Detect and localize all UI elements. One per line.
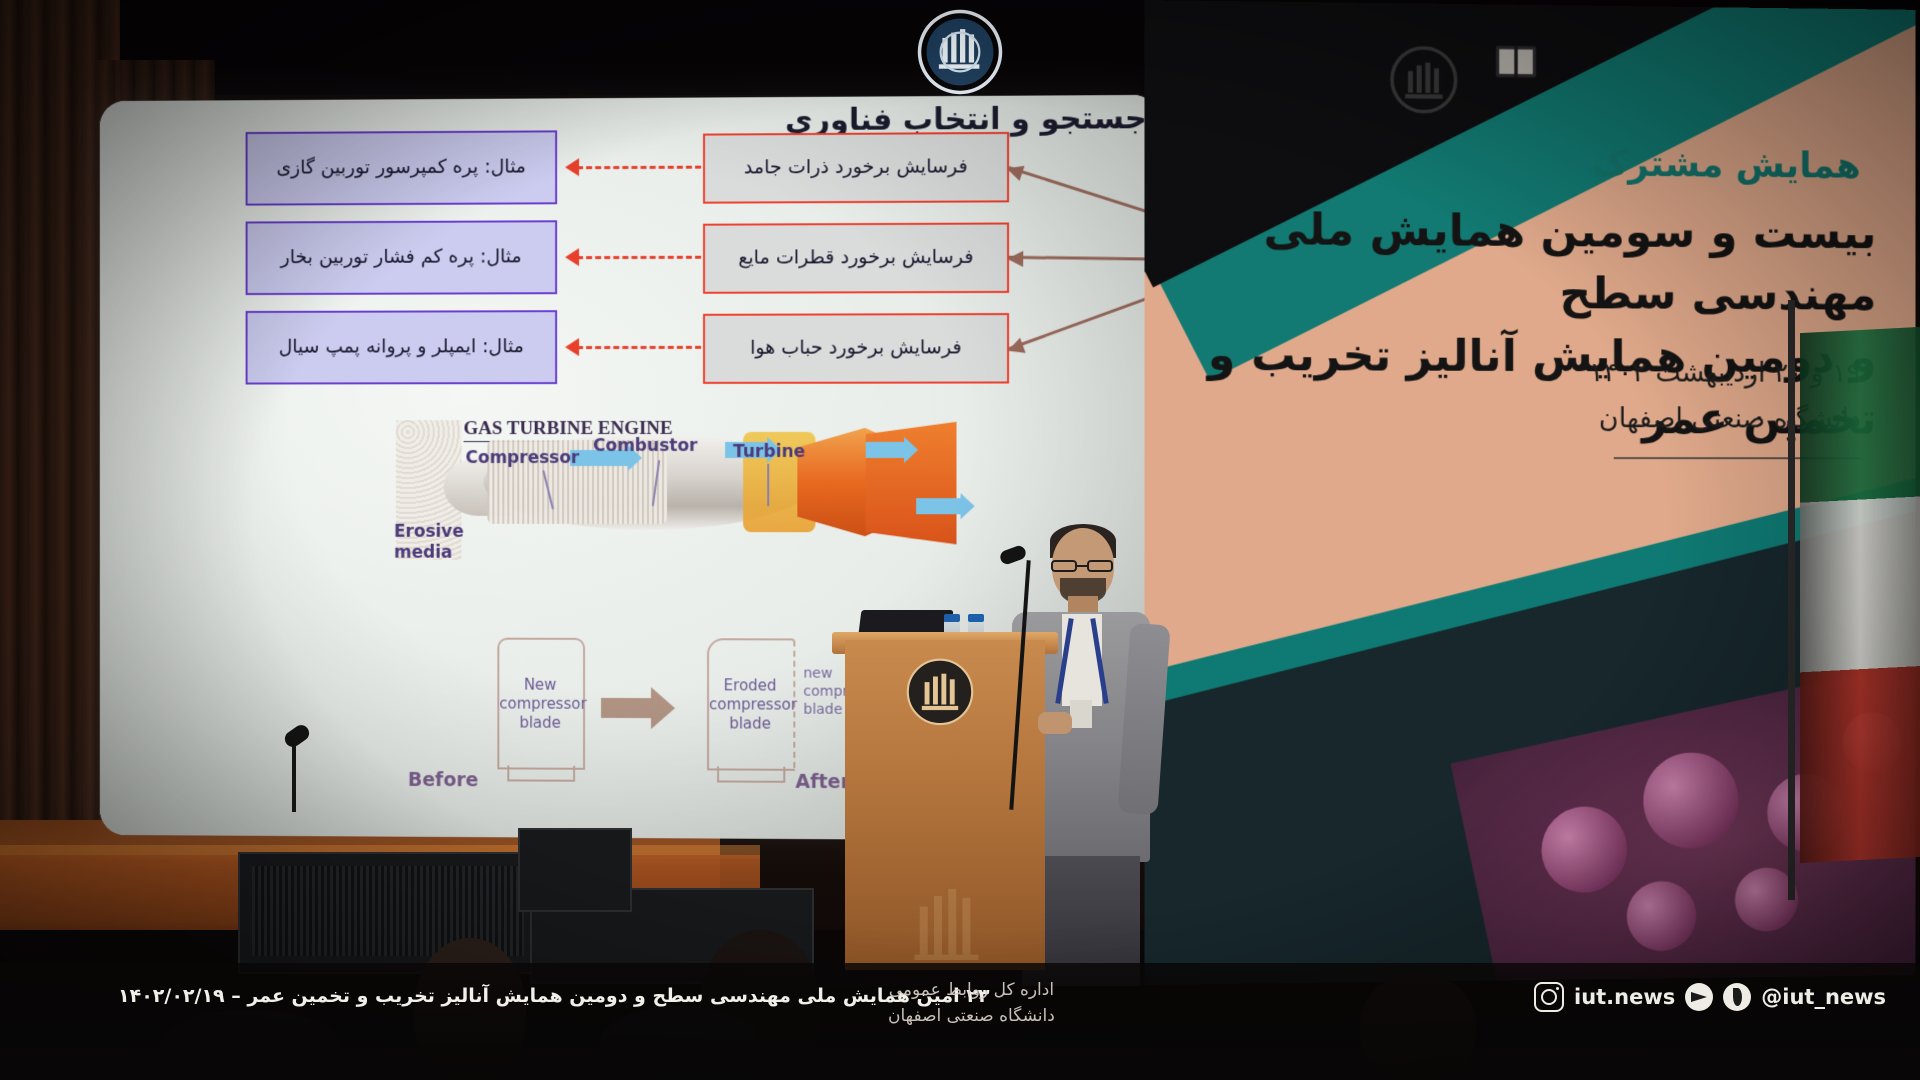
av-equipment-case xyxy=(518,828,632,912)
iut-emblem-icon xyxy=(916,8,1004,96)
turbine-flow-arrow xyxy=(866,442,906,458)
label-new-blade: New compressor blade xyxy=(499,676,581,732)
water-bottle-cap-1 xyxy=(944,614,960,622)
cell-1 xyxy=(1533,798,1635,900)
gas-turbine-diagram xyxy=(396,398,956,569)
speaker-glasses xyxy=(1050,560,1114,572)
flag-pole xyxy=(1788,300,1795,900)
caption-organization: اداره کل روابط عمومی دانشگاه صنعتی اصفها… xyxy=(888,978,1055,1029)
label-turbine: Turbine xyxy=(733,442,805,462)
instagram-handle[interactable]: iut.news xyxy=(1574,985,1675,1009)
connector-dash-1 xyxy=(577,166,701,170)
cell-4 xyxy=(1620,874,1702,957)
iran-flag xyxy=(1800,327,1920,863)
label-erosive-media: Erosive media xyxy=(394,522,464,564)
slide-box-example-pump-impeller: مثال: ایمپلر و پروانه پمپ سیال xyxy=(246,310,558,384)
speaker-name-badge xyxy=(1070,700,1092,728)
label-after: After xyxy=(795,771,850,793)
exhaust-flow-arrow xyxy=(916,498,962,514)
erosion-transition-arrow xyxy=(601,698,653,718)
slide-box-erosion-liquid: فرسایش برخورد قطرات مایع xyxy=(703,222,1009,293)
instagram-icon[interactable] xyxy=(1534,982,1564,1012)
podium-lower-emblem-icon xyxy=(905,880,995,960)
slide-box-erosion-bubble: فرسایش برخورد حباب هوا xyxy=(703,313,1009,384)
iut-logo-icon xyxy=(1388,43,1460,116)
caption-org-line-2: دانشگاه صنعتی اصفهان xyxy=(888,1004,1055,1030)
label-before: Before xyxy=(408,769,478,791)
connector-arrowhead-3 xyxy=(565,338,579,356)
telegram-icon[interactable] xyxy=(1685,983,1713,1011)
podium-emblem-icon xyxy=(905,655,975,733)
connector-dash-2 xyxy=(577,256,701,259)
banner-title-line-1: بیست و سومین همایش ملی مهندسی سطح xyxy=(1187,198,1876,327)
eitaa-icon[interactable] xyxy=(1723,983,1751,1011)
label-compressor: Compressor xyxy=(466,448,580,468)
connector-dash-3 xyxy=(577,346,701,349)
label-eroded-blade: Eroded compressor blade xyxy=(709,676,791,733)
label-combustor: Combustor xyxy=(593,436,697,456)
microphone-stand-table xyxy=(292,742,296,812)
book-icon xyxy=(1488,34,1544,91)
social-handles: iut.news @iut_news xyxy=(1534,982,1886,1012)
slide-box-erosion-solid: فرسایش برخورد ذرات جامد xyxy=(703,132,1009,204)
water-bottle-cap-2 xyxy=(968,614,984,622)
new-blade-root xyxy=(507,765,575,781)
telegram-eitaa-handle[interactable]: @iut_news xyxy=(1761,985,1886,1009)
eroded-blade-root xyxy=(717,766,785,782)
connector-arrowhead-1 xyxy=(565,158,579,176)
conference-photo-scene: جستجو و انتخاب فناوری فرسایش برخورد ذرات… xyxy=(0,0,1920,1080)
speaker-hand xyxy=(1038,712,1072,734)
banner-subtitle: همایش مشترک xyxy=(1591,144,1860,187)
slide-box-example-gas-turbine: مثال: پره کمپرسور توربین گازی xyxy=(246,130,558,205)
caption-org-line-1: اداره کل روابط عمومی xyxy=(888,978,1055,1004)
leader-turbine xyxy=(767,464,769,506)
slide-box-example-steam-turbine: مثال: پره کم فشار توربین بخار xyxy=(246,220,558,295)
cell-2 xyxy=(1634,744,1747,858)
connector-arrowhead-2 xyxy=(565,248,579,266)
caption-headline: ۲۳ امین همایش ملی مهندسی سطح و دومین هما… xyxy=(118,985,990,1007)
